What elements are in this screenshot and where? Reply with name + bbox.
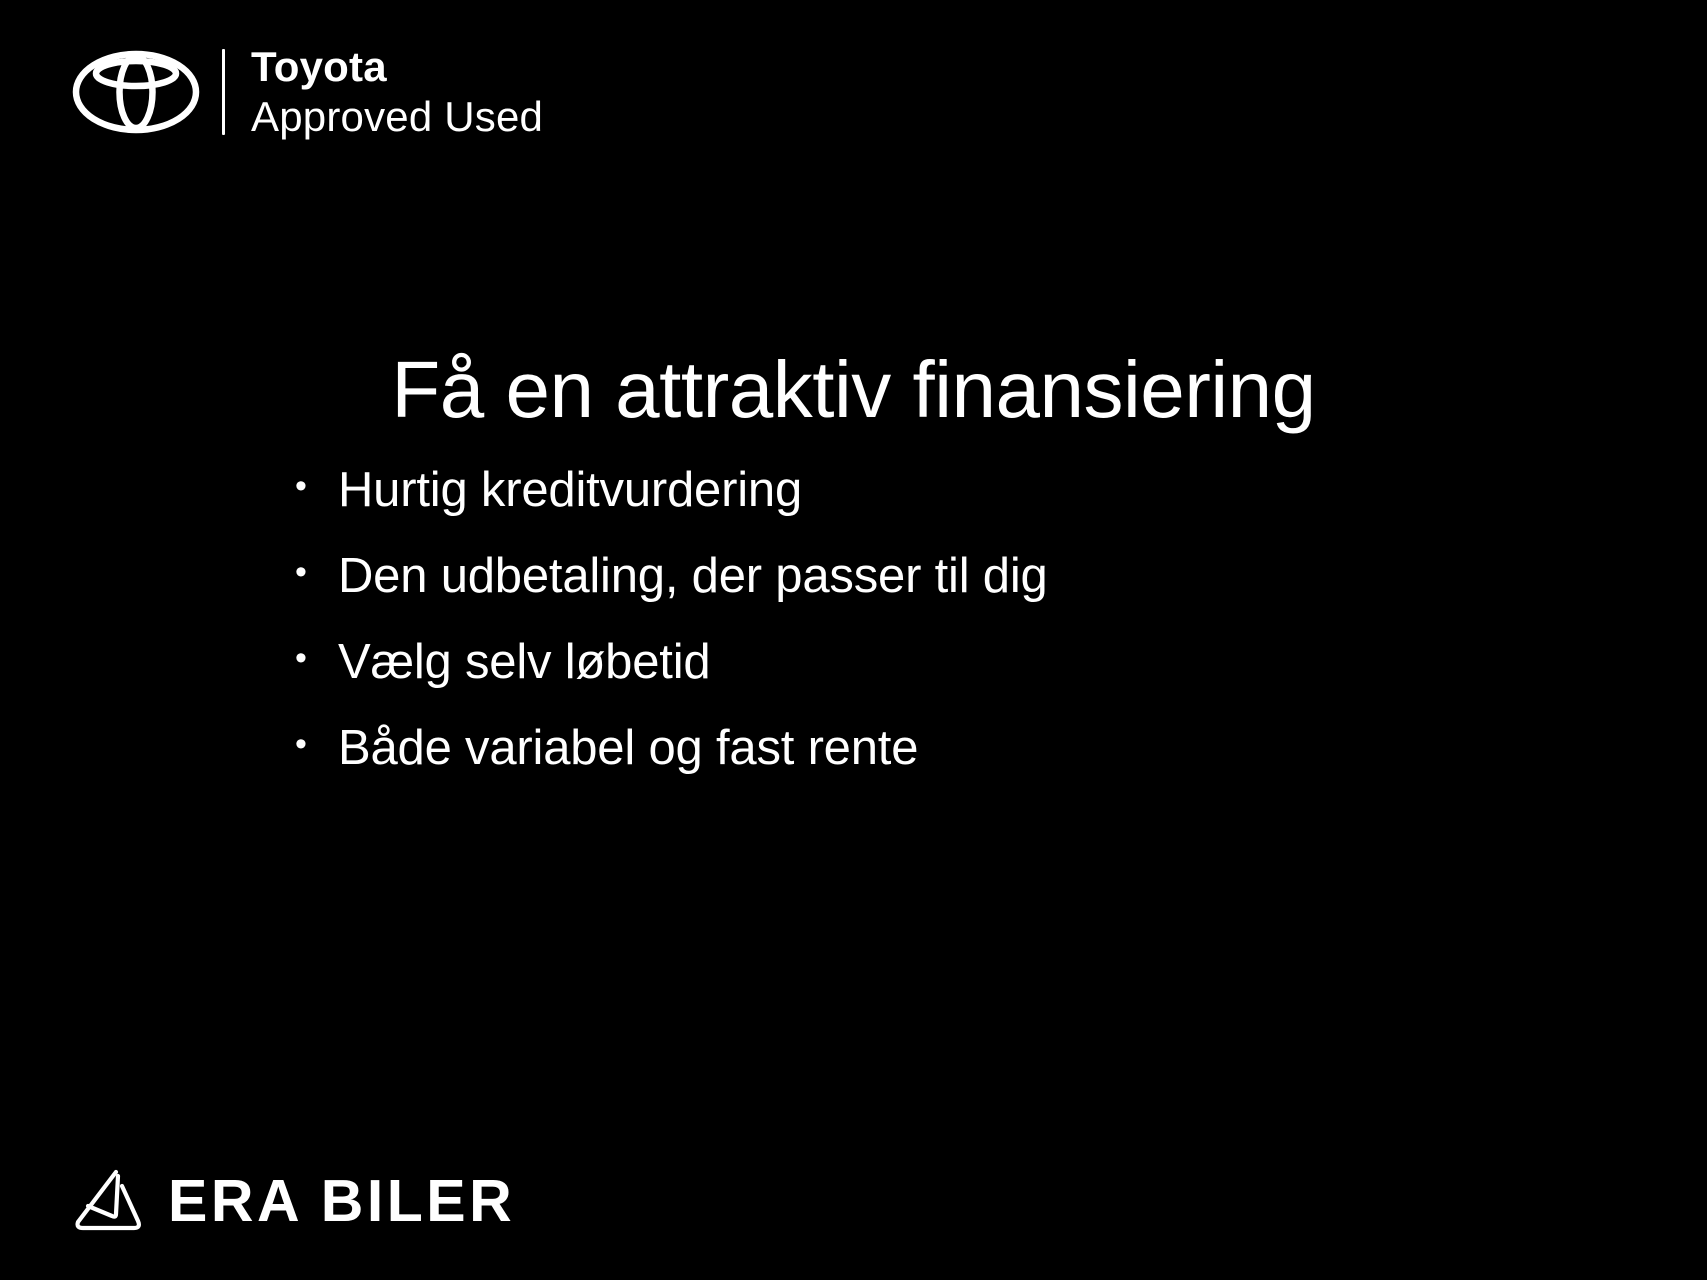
list-item-label: Vælg selv løbetid	[338, 638, 1395, 687]
list-item: • Den udbetaling, der passer til dig	[295, 552, 1395, 638]
toyota-approved-used-logo: Toyota Approved Used	[72, 46, 543, 138]
list-item-label: Den udbetaling, der passer til dig	[338, 552, 1395, 601]
brand-name: Toyota	[251, 46, 543, 88]
list-item: • Både variabel og fast rente	[295, 724, 1395, 810]
list-item: • Vælg selv løbetid	[295, 638, 1395, 724]
toyota-emblem-icon	[72, 48, 200, 136]
bullet-marker-icon: •	[295, 555, 338, 589]
slide-content: Få en attraktiv finansiering • Hurtig kr…	[0, 348, 1707, 810]
era-biler-wordmark: ERA BILER	[168, 1172, 515, 1231]
list-item: • Hurtig kreditvurdering	[295, 466, 1395, 552]
brand-wordmark: Toyota Approved Used	[251, 46, 543, 138]
brand-subline: Approved Used	[251, 96, 543, 138]
brand-divider	[222, 49, 225, 135]
feature-bullet-list: • Hurtig kreditvurdering • Den udbetalin…	[295, 466, 1395, 810]
bullet-marker-icon: •	[295, 727, 338, 761]
era-triangle-swirl-icon	[72, 1166, 146, 1236]
era-biler-logo: ERA BILER	[72, 1166, 515, 1236]
bullet-marker-icon: •	[295, 469, 338, 503]
slide-headline: Få en attraktiv finansiering	[0, 348, 1707, 432]
list-item-label: Både variabel og fast rente	[338, 724, 1395, 773]
list-item-label: Hurtig kreditvurdering	[338, 466, 1395, 515]
bullet-marker-icon: •	[295, 641, 338, 675]
presentation-slide: Toyota Approved Used Få en attraktiv fin…	[0, 0, 1707, 1280]
